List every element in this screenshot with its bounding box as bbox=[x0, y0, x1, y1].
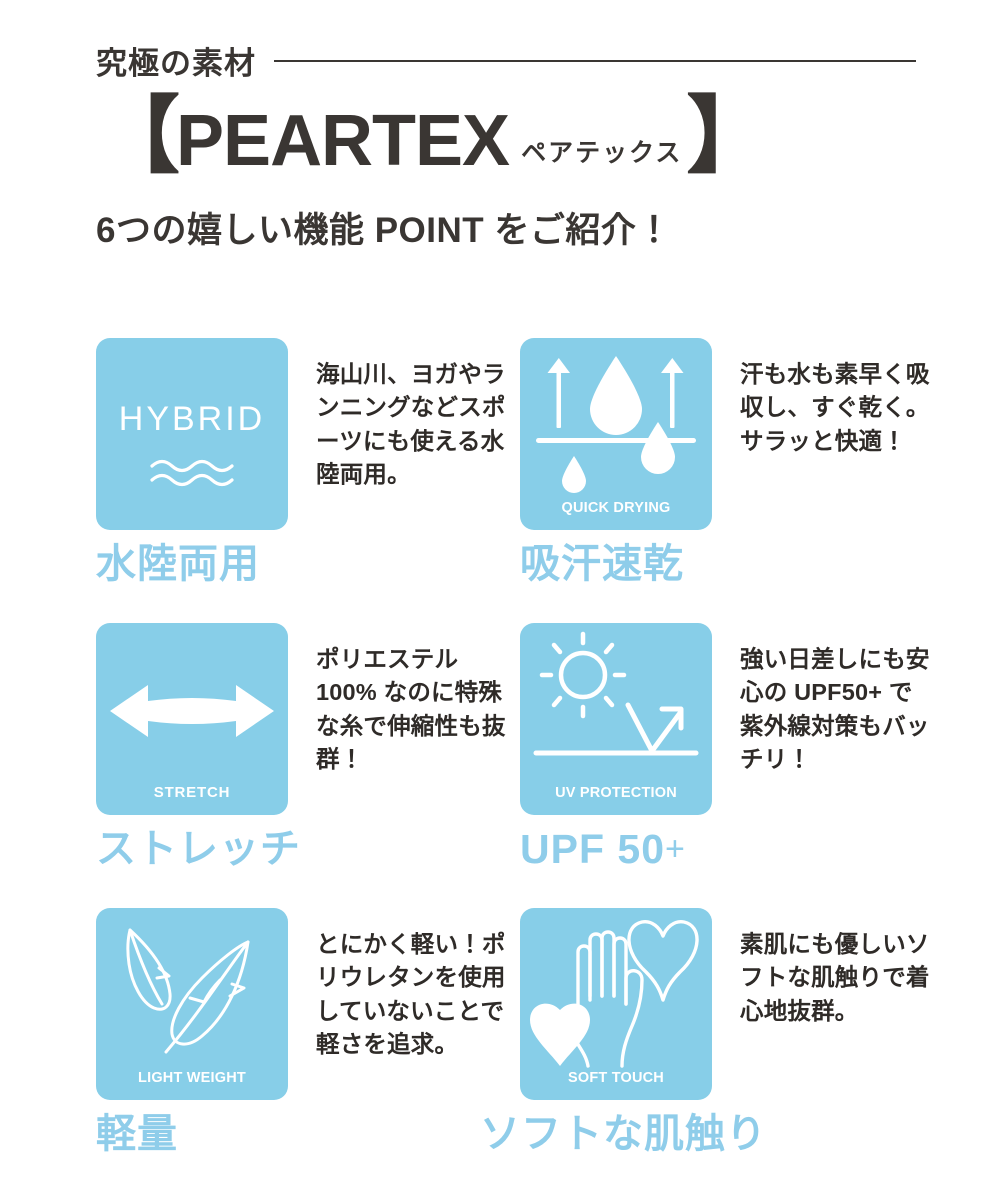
brand-row: 【 PEARTEX ペアテックス 】 bbox=[96, 98, 916, 176]
tile-word-hybrid: HYBRID bbox=[96, 400, 288, 439]
feature-card-top: STRETCH ポリエステル100% なのに特殊な糸で伸縮性も抜群！ bbox=[96, 623, 520, 815]
feature-description: 素肌にも優しいソフトな肌触りで着心地抜群。 bbox=[740, 908, 936, 1028]
feature-card-soft-touch: SOFT TOUCH 素肌にも優しいソフトな肌触りで着心地抜群。 ソフトな肌触り bbox=[520, 908, 936, 1198]
tile-caption-uv-protection: UV PROTECTION bbox=[520, 785, 712, 801]
tile-caption-soft-touch: SOFT TOUCH bbox=[520, 1070, 712, 1086]
feature-card-top: UV PROTECTION 強い日差しにも安心の UPF50+ で紫外線対策もバ… bbox=[520, 623, 936, 815]
feature-label-quick-drying: 吸汗速乾 bbox=[520, 542, 936, 586]
tile-caption-quick-drying: QUICK DRYING bbox=[520, 500, 712, 516]
feature-card-top: LIGHT WEIGHT とにかく軽い！ポリウレタンを使用していないことで軽さを… bbox=[96, 908, 520, 1100]
feature-card-uv-protection: UV PROTECTION 強い日差しにも安心の UPF50+ で紫外線対策もバ… bbox=[520, 623, 936, 908]
feature-card-light-weight: LIGHT WEIGHT とにかく軽い！ポリウレタンを使用していないことで軽さを… bbox=[96, 908, 520, 1198]
feature-label-upf-plus: + bbox=[665, 830, 686, 868]
feature-description: 汗も水も素早く吸収し、すぐ乾く。サラッと快適！ bbox=[740, 338, 936, 458]
feature-card-top: HYBRID 海山川、ヨガやランニングなどスポーツにも使える水陸両用。 bbox=[96, 338, 520, 530]
feature-card-hybrid: HYBRID 海山川、ヨガやランニングなどスポーツにも使える水陸両用。 水陸両用 bbox=[96, 338, 520, 623]
page-subheading: 6つの嬉しい機能 POINT をご紹介！ bbox=[96, 202, 916, 253]
feature-description: 海山川、ヨガやランニングなどスポーツにも使える水陸両用。 bbox=[316, 338, 516, 491]
feature-label-upf: UPF 50+ bbox=[520, 827, 936, 872]
soft-touch-hand-heart-icon: SOFT TOUCH bbox=[520, 908, 712, 1100]
brand-name: PEARTEX bbox=[176, 108, 509, 174]
eyebrow-row: 究極の素材 bbox=[96, 36, 916, 84]
uv-protection-sun-icon: UV PROTECTION bbox=[520, 623, 712, 815]
feature-card-stretch: STRETCH ポリエステル100% なのに特殊な糸で伸縮性も抜群！ ストレッチ bbox=[96, 623, 520, 908]
page-header: 究極の素材 【 PEARTEX ペアテックス 】 6つの嬉しい機能 POINT … bbox=[96, 36, 916, 253]
quick-drying-droplets-icon: QUICK DRYING bbox=[520, 338, 712, 530]
light-weight-feathers-icon: LIGHT WEIGHT bbox=[96, 908, 288, 1100]
feature-description: とにかく軽い！ポリウレタンを使用していないことで軽さを追求。 bbox=[316, 908, 516, 1061]
feature-description: ポリエステル100% なのに特殊な糸で伸縮性も抜群！ bbox=[316, 623, 516, 776]
bracket-close: 】 bbox=[686, 98, 766, 175]
feature-card-top: QUICK DRYING 汗も水も素早く吸収し、すぐ乾く。サラッと快適！ bbox=[520, 338, 936, 530]
bracket-open: 【 bbox=[96, 98, 176, 175]
header-divider-rule bbox=[274, 60, 916, 62]
stretch-double-arrow-icon: STRETCH bbox=[96, 623, 288, 815]
feature-label-stretch: ストレッチ bbox=[96, 827, 520, 871]
feature-label-upf-text: UPF 50 bbox=[520, 826, 665, 872]
tile-caption-stretch: STRETCH bbox=[96, 784, 288, 801]
feature-card-top: SOFT TOUCH 素肌にも優しいソフトな肌触りで着心地抜群。 bbox=[520, 908, 936, 1100]
feature-label-hybrid: 水陸両用 bbox=[96, 542, 520, 586]
tile-caption-light-weight: LIGHT WEIGHT bbox=[96, 1070, 288, 1086]
feature-label-soft-touch: ソフトな肌触り bbox=[480, 1112, 896, 1156]
feature-description: 強い日差しにも安心の UPF50+ で紫外線対策もバッチリ！ bbox=[740, 623, 936, 776]
eyebrow-text: 究極の素材 bbox=[96, 38, 256, 83]
feature-grid: HYBRID 海山川、ヨガやランニングなどスポーツにも使える水陸両用。 水陸両用 bbox=[96, 338, 936, 1198]
hybrid-waves-icon: HYBRID bbox=[96, 338, 288, 530]
brand-name-kana: ペアテックス bbox=[521, 133, 682, 169]
feature-label-light-weight: 軽量 bbox=[96, 1112, 520, 1156]
feature-card-quick-drying: QUICK DRYING 汗も水も素早く吸収し、すぐ乾く。サラッと快適！ 吸汗速… bbox=[520, 338, 936, 623]
